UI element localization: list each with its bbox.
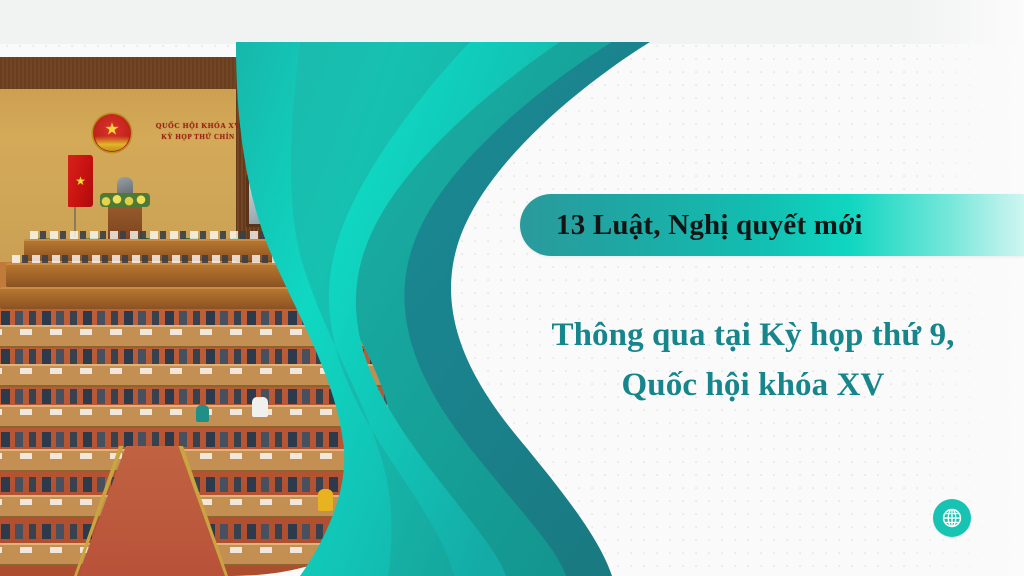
headline-line-1: Thông qua tại Kỳ họp thứ 9, <box>492 310 1014 360</box>
page-title: Thông qua tại Kỳ họp thứ 9, Quốc hội khó… <box>492 310 1014 410</box>
globe-logo-badge[interactable] <box>933 499 971 537</box>
globe-icon <box>941 507 963 529</box>
highlight-badge: 13 Luật, Nghị quyết mới <box>520 194 1024 256</box>
headline-line-2: Quốc hội khóa XV <box>492 360 1014 410</box>
banner-canvas: ★ QUỐC HỘI KHÓA XV KỲ HỌP THỨ CHÍN ★ <box>0 0 1024 576</box>
teal-swoosh-graphic <box>0 0 1024 576</box>
badge-label: 13 Luật, Nghị quyết mới <box>556 209 863 242</box>
